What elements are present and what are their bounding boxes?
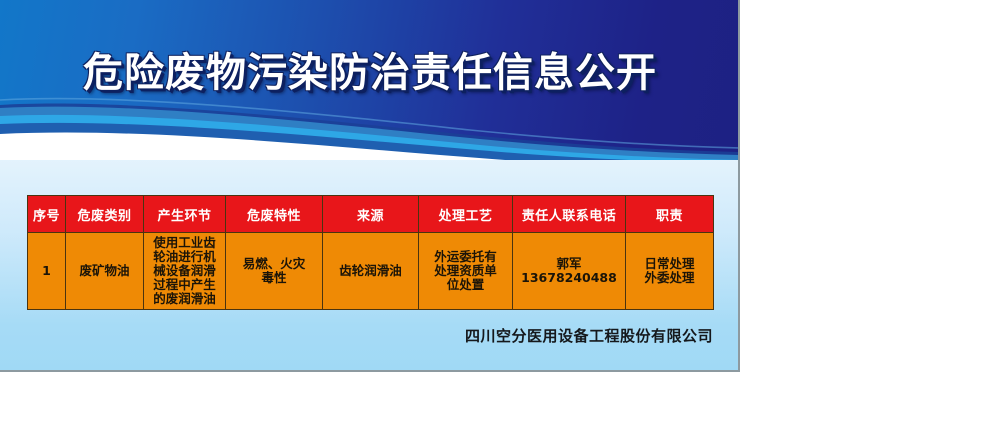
generation-line: 过程中产生 — [146, 278, 223, 292]
poster: 危险废物污染防治责任信息公开 序号 危废类别 产生环节 危废特性 来源 处理工艺… — [0, 0, 740, 372]
column-header-index: 序号 — [28, 196, 66, 233]
column-header-hazard: 危废特性 — [226, 196, 323, 233]
cell-duty: 日常处理 外委处理 — [626, 233, 714, 310]
column-header-category: 危废类别 — [66, 196, 144, 233]
cell-generation: 使用工业齿 轮油进行机 械设备润滑 过程中产生 的废润滑油 — [144, 233, 226, 310]
table-header-row: 序号 危废类别 产生环节 危废特性 来源 处理工艺 责任人联系电话 职责 — [28, 196, 714, 233]
page-title: 危险废物污染防治责任信息公开 — [83, 48, 657, 98]
duty-line: 外委处理 — [628, 271, 711, 285]
column-header-treatment: 处理工艺 — [419, 196, 513, 233]
generation-line: 使用工业齿 — [146, 236, 223, 250]
cell-contact: 郭军 13678240488 — [513, 233, 626, 310]
cell-category: 废矿物油 — [66, 233, 144, 310]
generation-line: 轮油进行机 — [146, 250, 223, 264]
contact-name: 郭军 — [515, 257, 623, 271]
generation-line: 械设备润滑 — [146, 264, 223, 278]
column-header-generation: 产生环节 — [144, 196, 226, 233]
treatment-line: 位处置 — [421, 278, 510, 292]
column-header-source: 来源 — [323, 196, 419, 233]
treatment-line: 处理资质单 — [421, 264, 510, 278]
contact-phone: 13678240488 — [515, 271, 623, 285]
cell-index: 1 — [28, 233, 66, 310]
column-header-contact: 责任人联系电话 — [513, 196, 626, 233]
hazardous-waste-table: 序号 危废类别 产生环节 危废特性 来源 处理工艺 责任人联系电话 职责 1 废… — [27, 195, 714, 310]
table-row: 1 废矿物油 使用工业齿 轮油进行机 械设备润滑 过程中产生 的废润滑油 易燃、… — [28, 233, 714, 310]
company-name: 四川空分医用设备工程股份有限公司 — [0, 325, 713, 346]
treatment-line: 外运委托有 — [421, 250, 510, 264]
cell-source: 齿轮润滑油 — [323, 233, 419, 310]
hazard-line: 毒性 — [228, 271, 320, 285]
cell-hazard: 易燃、火灾 毒性 — [226, 233, 323, 310]
duty-line: 日常处理 — [628, 257, 711, 271]
hazard-line: 易燃、火灾 — [228, 257, 320, 271]
poster-banner: 危险废物污染防治责任信息公开 — [0, 0, 740, 160]
column-header-duty: 职责 — [626, 196, 714, 233]
generation-line: 的废润滑油 — [146, 292, 223, 306]
title-container: 危险废物污染防治责任信息公开 — [0, 48, 740, 98]
cell-treatment: 外运委托有 处理资质单 位处置 — [419, 233, 513, 310]
